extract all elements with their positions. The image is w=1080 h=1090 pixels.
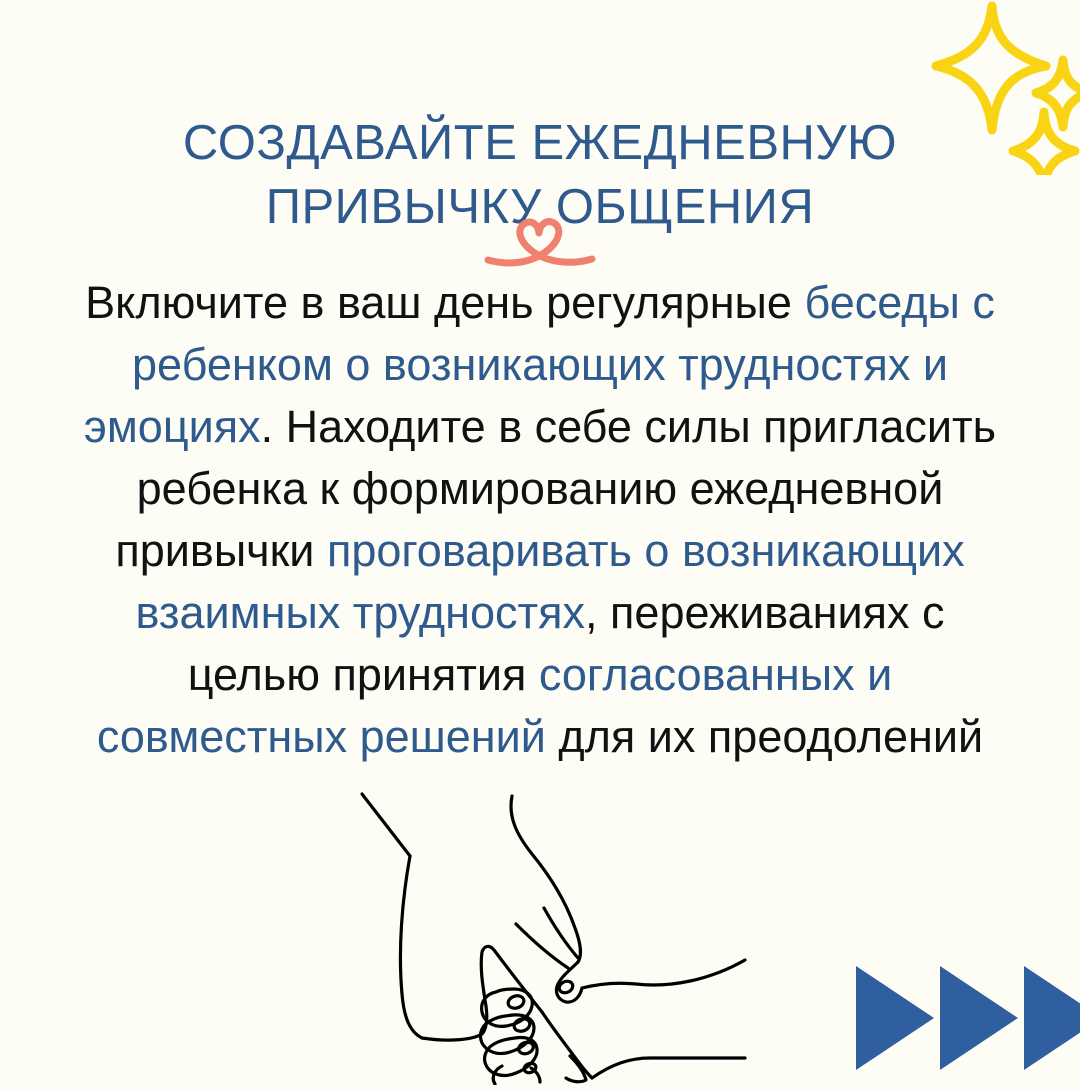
body-segment-highlight: беседы с (804, 277, 994, 328)
body-segment-highlight: взаимных трудностях (135, 587, 585, 638)
body-segment-highlight: ребенком о возникающих трудностях и (132, 339, 948, 390)
body-line: взаимных трудностях, переживаниях с (36, 582, 1044, 644)
body-line: совместных решений для их преодолений (36, 706, 1044, 768)
triangle-arrow-icon[interactable] (856, 966, 934, 1070)
body-line: эмоциях. Находите в себе силы пригласить (36, 396, 1044, 458)
body-segment: ребенка к формированию ежедневной (137, 463, 944, 514)
heart-ribbon-icon (480, 216, 600, 277)
body-segment: , переживаниях с (585, 587, 944, 638)
body-line: целью принятия согласованных и (36, 644, 1044, 706)
next-page-arrows[interactable] (856, 966, 1080, 1080)
slide-canvas: СОЗДАВАЙТЕ ЕЖЕДНЕВНУЮ ПРИВЫЧКУ ОБЩЕНИЯ В… (0, 0, 1080, 1080)
body-segment: . Находите в себе силы пригласить (261, 401, 997, 452)
body-segment-highlight: эмоциях (84, 401, 261, 452)
body-segment: привычки (115, 525, 327, 576)
body-segment: целью принятия (188, 649, 539, 700)
body-line: ребенком о возникающих трудностях и (36, 334, 1044, 396)
page-title-line-1: СОЗДАВАЙТЕ ЕЖЕДНЕВНУЮ (0, 111, 1080, 175)
body-line: Включите в ваш день регулярные беседы с (36, 272, 1044, 334)
holding-hands-illustration (330, 780, 760, 1085)
body-line: ребенка к формированию ежедневной (36, 458, 1044, 520)
body-paragraph: Включите в ваш день регулярные беседы с … (36, 272, 1044, 768)
triangle-arrow-icon[interactable] (940, 966, 1018, 1070)
body-segment-highlight: совместных решений (97, 711, 546, 762)
triangle-arrow-icon[interactable] (1024, 966, 1080, 1070)
divider (0, 216, 1080, 277)
body-segment: Включите в ваш день регулярные (85, 277, 804, 328)
body-segment-highlight: согласованных и (539, 649, 892, 700)
body-segment: для их преодолений (546, 711, 983, 762)
body-line: привычки проговаривать о возникающих (36, 520, 1044, 582)
body-segment-highlight: проговаривать о возникающих (327, 525, 965, 576)
